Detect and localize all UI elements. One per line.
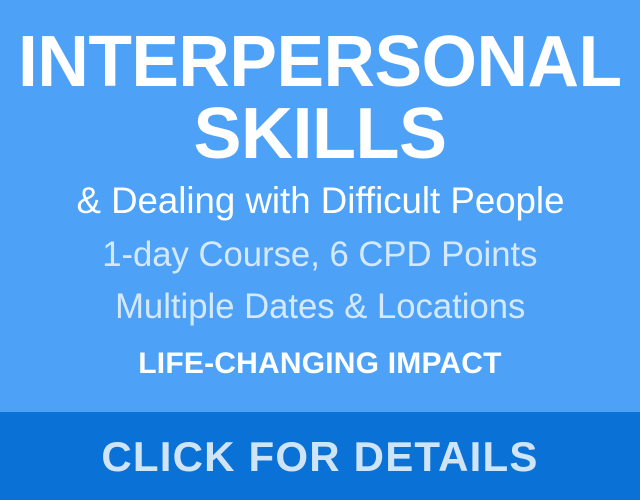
cta-button-label: CLICK FOR DETAILS xyxy=(101,433,538,481)
course-dates-and-locations: Multiple Dates & Locations xyxy=(115,288,525,327)
banner-tagline: LIFE-CHANGING IMPACT xyxy=(138,347,501,380)
cta-button[interactable]: CLICK FOR DETAILS xyxy=(0,412,640,500)
banner-subheading: & Dealing with Difficult People xyxy=(76,180,564,221)
course-duration-and-cpd: 1-day Course, 6 CPD Points xyxy=(102,236,537,275)
headline-line-2: SKILLS xyxy=(193,96,446,174)
headline-line-1: INTERPERSONAL xyxy=(18,27,621,98)
banner-content: INTERPERSONAL SKILLS & Dealing with Diff… xyxy=(0,0,640,412)
promo-banner[interactable]: INTERPERSONAL SKILLS & Dealing with Diff… xyxy=(0,0,640,500)
